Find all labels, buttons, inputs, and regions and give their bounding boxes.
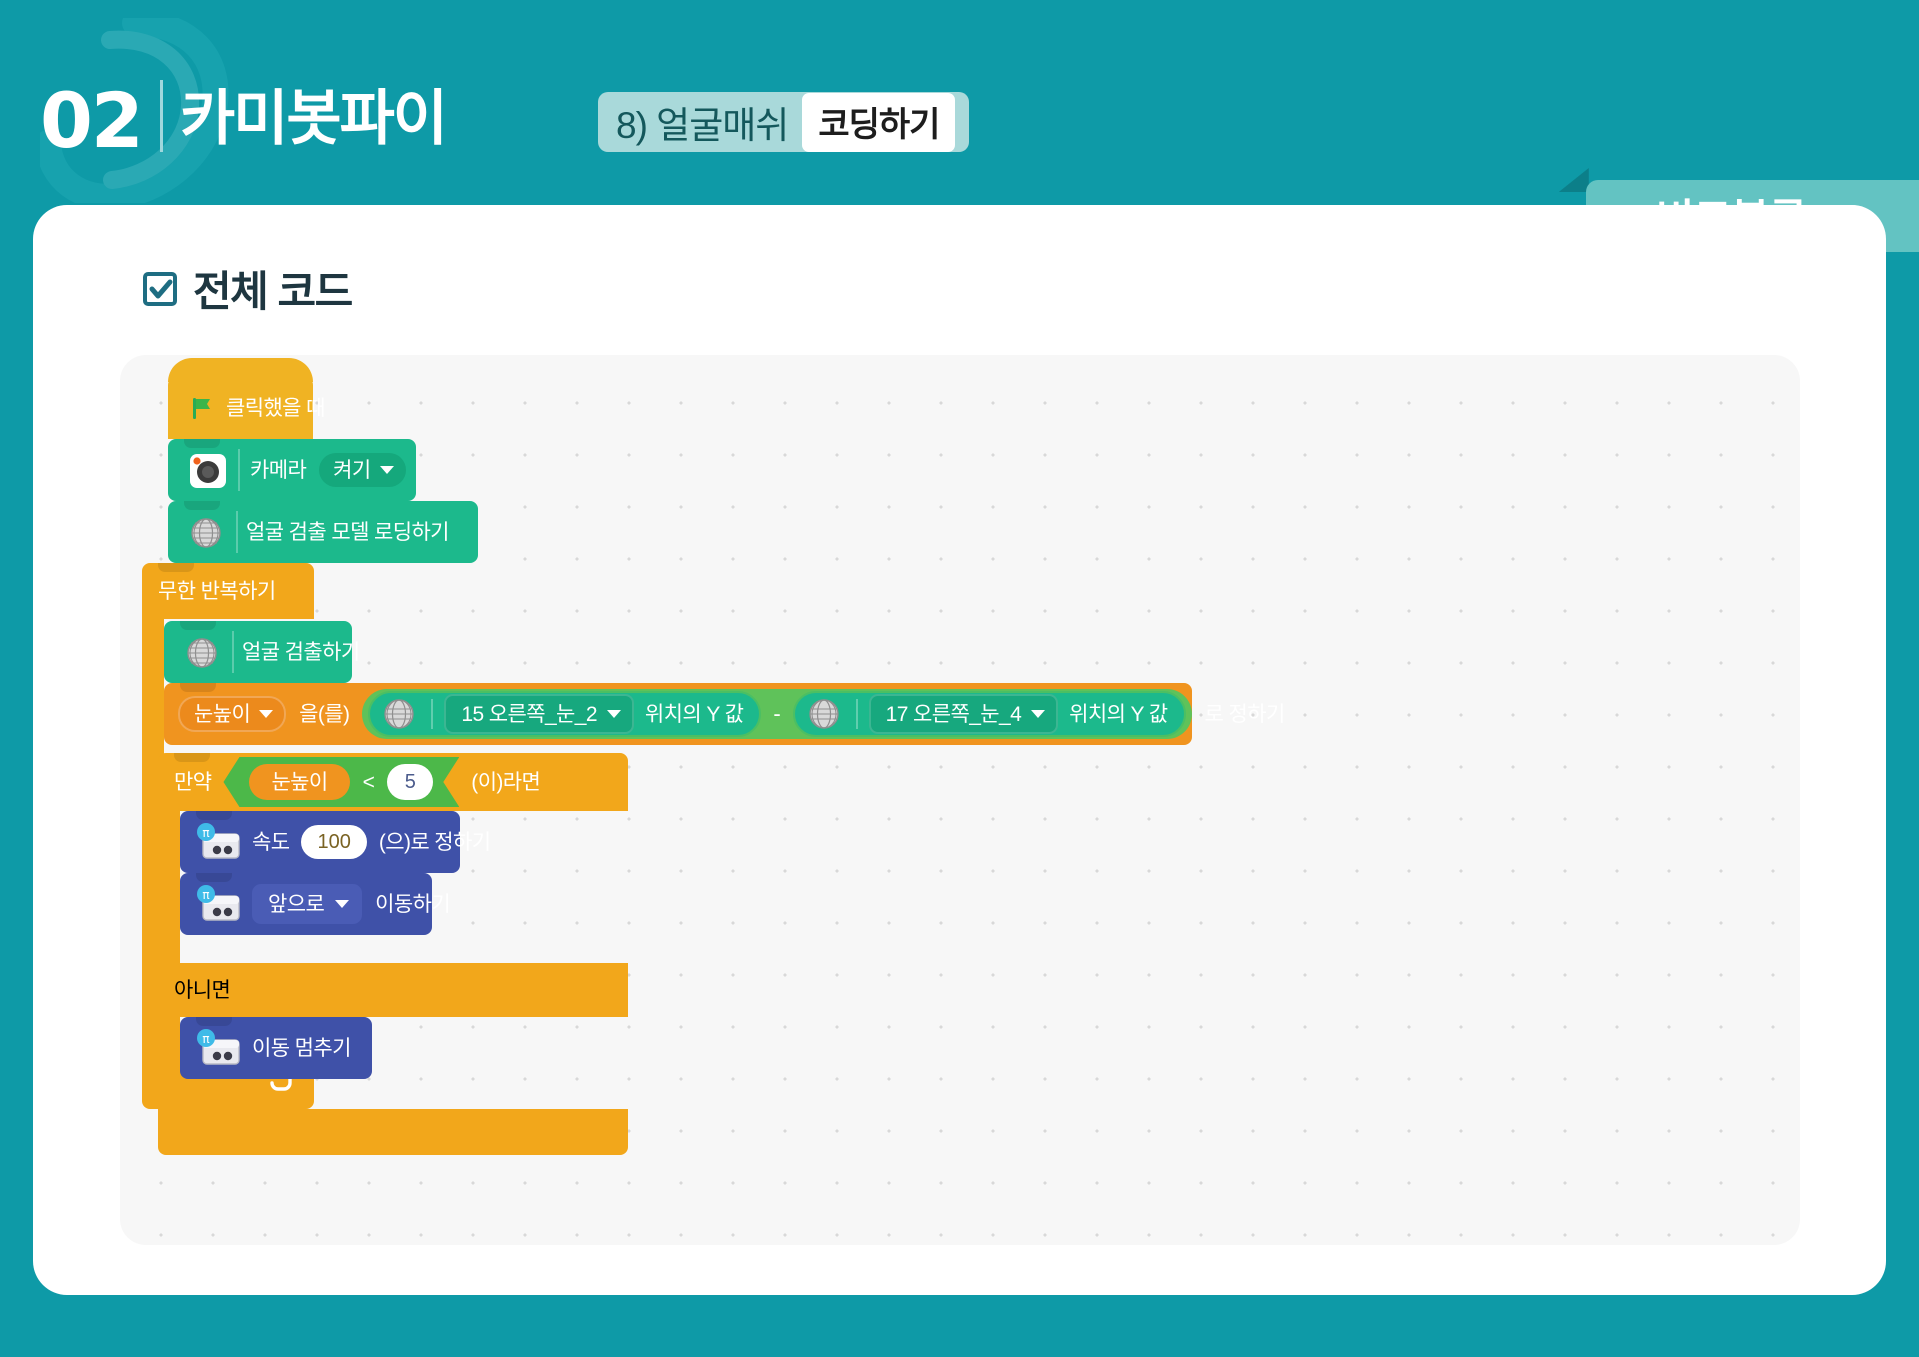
reporter-label: 위치의 Y 값	[1069, 704, 1167, 725]
condition-value-input[interactable]: 5	[387, 764, 433, 800]
operator-subtract[interactable]: 15 오른쪽_눈_2 위치의 Y 값 - 17 오른쪽_눈_4	[362, 689, 1191, 739]
block-label: 무한 반복하기	[158, 581, 276, 602]
block-separator	[232, 631, 234, 673]
variable-name: 눈높이	[271, 772, 327, 793]
chevron-down-icon	[259, 710, 273, 718]
dropdown-value: 앞으로	[268, 894, 324, 915]
svg-text:π: π	[202, 826, 209, 840]
block-notch	[196, 1017, 232, 1026]
block-camera[interactable]: 카메라 켜기	[168, 439, 416, 501]
kamibot-icon: π	[194, 884, 244, 926]
block-notch	[196, 873, 232, 882]
comparator-symbol: <	[363, 772, 375, 793]
subtitle-pill: 8) 얼굴매쉬 코딩하기	[598, 92, 969, 152]
svg-text:π: π	[202, 888, 209, 902]
condition-less-than[interactable]: 눈높이 < 5	[223, 757, 459, 807]
block-set-speed[interactable]: π 속도 100 (으)로 정하기	[180, 811, 460, 873]
block-suffix-label: (으)로 정하기	[379, 832, 491, 853]
keypoint-dropdown-2[interactable]: 17 오른쪽_눈_4	[869, 694, 1059, 734]
header-divider	[160, 80, 163, 152]
block-when-flag-clicked[interactable]: 클릭했을 때	[168, 377, 313, 439]
block-separator	[238, 449, 240, 491]
dropdown-value: 눈높이	[194, 704, 250, 725]
block-notch	[196, 811, 232, 820]
variable-dropdown[interactable]: 눈높이	[178, 696, 286, 732]
camera-state-dropdown[interactable]: 켜기	[319, 453, 405, 487]
block-else-bar[interactable]: 아니면	[158, 963, 628, 1017]
chevron-down-icon	[1031, 710, 1045, 718]
block-if-spine-1	[158, 811, 180, 963]
chevron-down-icon	[380, 466, 394, 474]
code-canvas[interactable]: 클릭했을 때 카메라 켜기 얼굴 검출 모델 로딩	[120, 355, 1800, 1245]
hat-dome	[168, 358, 313, 382]
subtitle-text: 8) 얼굴매쉬	[616, 95, 788, 149]
block-move[interactable]: π 앞으로 이동하기	[180, 873, 432, 935]
block-if-else-header[interactable]: 만약 눈높이 < 5 (이)라면	[158, 753, 628, 811]
kamibot-icon: π	[194, 1028, 244, 1070]
block-notch	[184, 501, 220, 510]
operator-symbol: -	[771, 701, 782, 727]
dropdown-value: 15 오른쪽_눈_2	[461, 704, 597, 725]
block-separator	[431, 699, 433, 729]
green-flag-icon	[188, 394, 216, 422]
block-label: 이동 멈추기	[252, 1038, 351, 1059]
dropdown-value: 17 오른쪽_눈_4	[886, 704, 1022, 725]
dropdown-value: 켜기	[333, 460, 370, 481]
speed-value-input[interactable]: 100	[301, 825, 366, 859]
section-header: 전체 코드	[143, 258, 352, 319]
block-label: 얼굴 검출하기	[242, 642, 360, 663]
if-prefix-label: 만약	[174, 772, 211, 793]
ai-globe-icon	[805, 695, 843, 733]
block-notch	[184, 439, 220, 448]
block-notch	[174, 753, 210, 762]
camera-icon	[188, 452, 228, 490]
reporter-label: 위치의 Y 값	[645, 704, 743, 725]
checkbox-checked-icon	[143, 272, 177, 306]
section-title: 전체 코드	[193, 258, 352, 319]
chapter-title: 카미봇파이	[180, 70, 446, 157]
particle-label: 을(를)	[299, 704, 349, 725]
else-label: 아니면	[174, 980, 230, 1001]
block-separator	[856, 699, 858, 729]
chapter-number: 02	[40, 76, 142, 165]
kamibot-icon: π	[194, 822, 244, 864]
block-if-footer	[158, 1109, 628, 1155]
ai-globe-icon	[183, 634, 221, 672]
block-label: 속도	[252, 832, 289, 853]
slide-header: 02 카미봇파이 8) 얼굴매쉬 코딩하기	[0, 0, 1919, 200]
if-suffix-label: (이)라면	[471, 772, 540, 793]
reporter-keypoint-y-1[interactable]: 15 오른쪽_눈_2 위치의 Y 값	[368, 691, 761, 737]
block-set-variable[interactable]: 눈높이 을(를) 15 오른쪽_눈_2 위치의 Y 값	[164, 683, 1192, 745]
chevron-down-icon	[607, 710, 621, 718]
block-stop-move[interactable]: π 이동 멈추기	[180, 1017, 372, 1079]
block-label: 이동하기	[375, 894, 450, 915]
block-notch	[180, 683, 216, 692]
block-notch	[180, 621, 216, 630]
keypoint-dropdown-1[interactable]: 15 오른쪽_눈_2	[444, 694, 634, 734]
ai-globe-icon	[187, 514, 225, 552]
variable-reporter[interactable]: 눈높이	[249, 764, 349, 800]
block-label: 클릭했을 때	[226, 398, 325, 419]
block-notch	[158, 563, 194, 572]
block-detect-face[interactable]: 얼굴 검출하기	[164, 621, 352, 683]
block-label: 얼굴 검출 모델 로딩하기	[246, 522, 449, 543]
block-forever-header[interactable]: 무한 반복하기	[142, 563, 314, 619]
block-label: 카메라	[250, 460, 306, 481]
chevron-down-icon	[335, 900, 349, 908]
ai-globe-icon	[380, 695, 418, 733]
direction-dropdown[interactable]: 앞으로	[252, 884, 362, 924]
subtitle-chip: 코딩하기	[802, 93, 955, 152]
block-load-face-model[interactable]: 얼굴 검출 모델 로딩하기	[168, 501, 478, 563]
block-if-spine-2	[158, 1017, 180, 1109]
reporter-keypoint-y-2[interactable]: 17 오른쪽_눈_4 위치의 Y 값	[793, 691, 1186, 737]
block-separator	[236, 511, 238, 553]
svg-text:π: π	[202, 1032, 209, 1046]
set-suffix-label: 로 정하기	[1205, 704, 1285, 725]
